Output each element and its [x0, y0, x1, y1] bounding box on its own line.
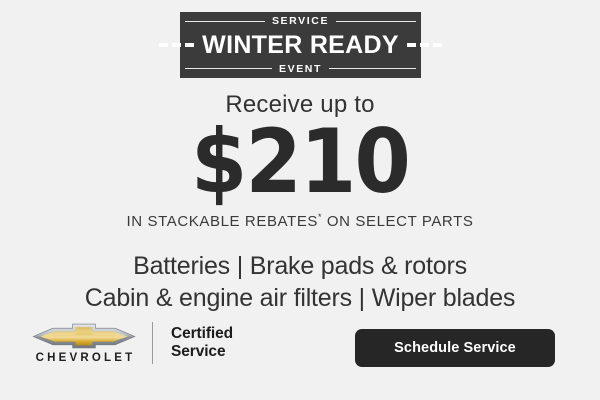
disclaimer-tail: ON SELECT PARTS: [322, 213, 473, 230]
badge-rule-right-2: [329, 68, 416, 69]
dash-icon: [407, 43, 416, 47]
certified-service-label: Certified Service: [171, 325, 233, 362]
badge-title-row: WINTER READY: [185, 27, 416, 64]
dash-icon: [420, 43, 429, 47]
offer-amount: $210: [24, 118, 576, 206]
disclaimer-main: IN STACKABLE REBATES: [127, 213, 319, 230]
winter-ready-badge: SERVICE WINTER READY EVENT: [180, 12, 421, 78]
dash-icon: [172, 43, 181, 47]
certified-line-1: Certified: [171, 325, 233, 343]
chevrolet-wordmark: CHEVROLET: [33, 353, 136, 365]
dash-icon: [433, 43, 442, 47]
brand-lockup: CHEVROLET Certified Service: [30, 322, 233, 365]
dash-icon: [159, 43, 168, 47]
chevrolet-logo: CHEVROLET: [30, 322, 138, 365]
badge-event-label: EVENT: [279, 64, 322, 75]
dash-icon: [185, 43, 194, 47]
badge-service-label: SERVICE: [272, 16, 329, 27]
parts-line-1: Batteries | Brake pads & rotors: [0, 250, 600, 282]
chevrolet-bowtie-icon: [32, 322, 136, 350]
badge-dashes-right: [407, 43, 442, 47]
badge-bottom-row: EVENT: [185, 64, 416, 75]
parts-list: Batteries | Brake pads & rotors Cabin & …: [0, 250, 600, 314]
badge-rule-left-2: [185, 68, 272, 69]
parts-line-2: Cabin & engine air filters | Wiper blade…: [0, 282, 600, 314]
brand-divider: [152, 322, 153, 364]
badge-top-row: SERVICE: [185, 16, 416, 27]
badge-title: WINTER READY: [202, 33, 399, 58]
promo-banner: SERVICE WINTER READY EVENT Receive up to…: [0, 0, 600, 400]
badge-rule-left: [185, 21, 265, 22]
certified-line-2: Service: [171, 343, 233, 361]
badge-dashes-left: [159, 43, 194, 47]
offer-disclaimer: IN STACKABLE REBATES* ON SELECT PARTS: [0, 214, 600, 229]
badge-rule-right: [336, 21, 416, 22]
schedule-service-button[interactable]: Schedule Service: [355, 329, 555, 367]
banner-footer: CHEVROLET Certified Service Schedule Ser…: [0, 318, 600, 380]
